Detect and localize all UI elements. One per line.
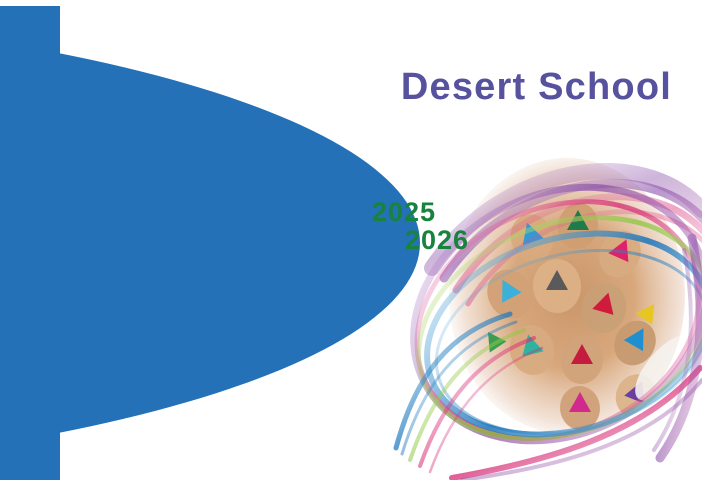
page-title: Desert School [300,68,672,106]
subtitle-block: Desert School 2025-2026 [92,288,312,334]
colored-pencils-artwork [392,118,702,480]
subtitle-school-years: 2025-2026 [92,314,312,335]
year-start: 2025 [330,198,510,226]
school-year-block: 2025 2026 [330,198,510,254]
subtitle-school-name: Desert School [92,288,312,312]
school-cover-page: Desert School 2025 2026 Desert School 20… [0,0,702,480]
ribbon-swirls [392,140,702,480]
year-end: 2026 [330,226,510,254]
